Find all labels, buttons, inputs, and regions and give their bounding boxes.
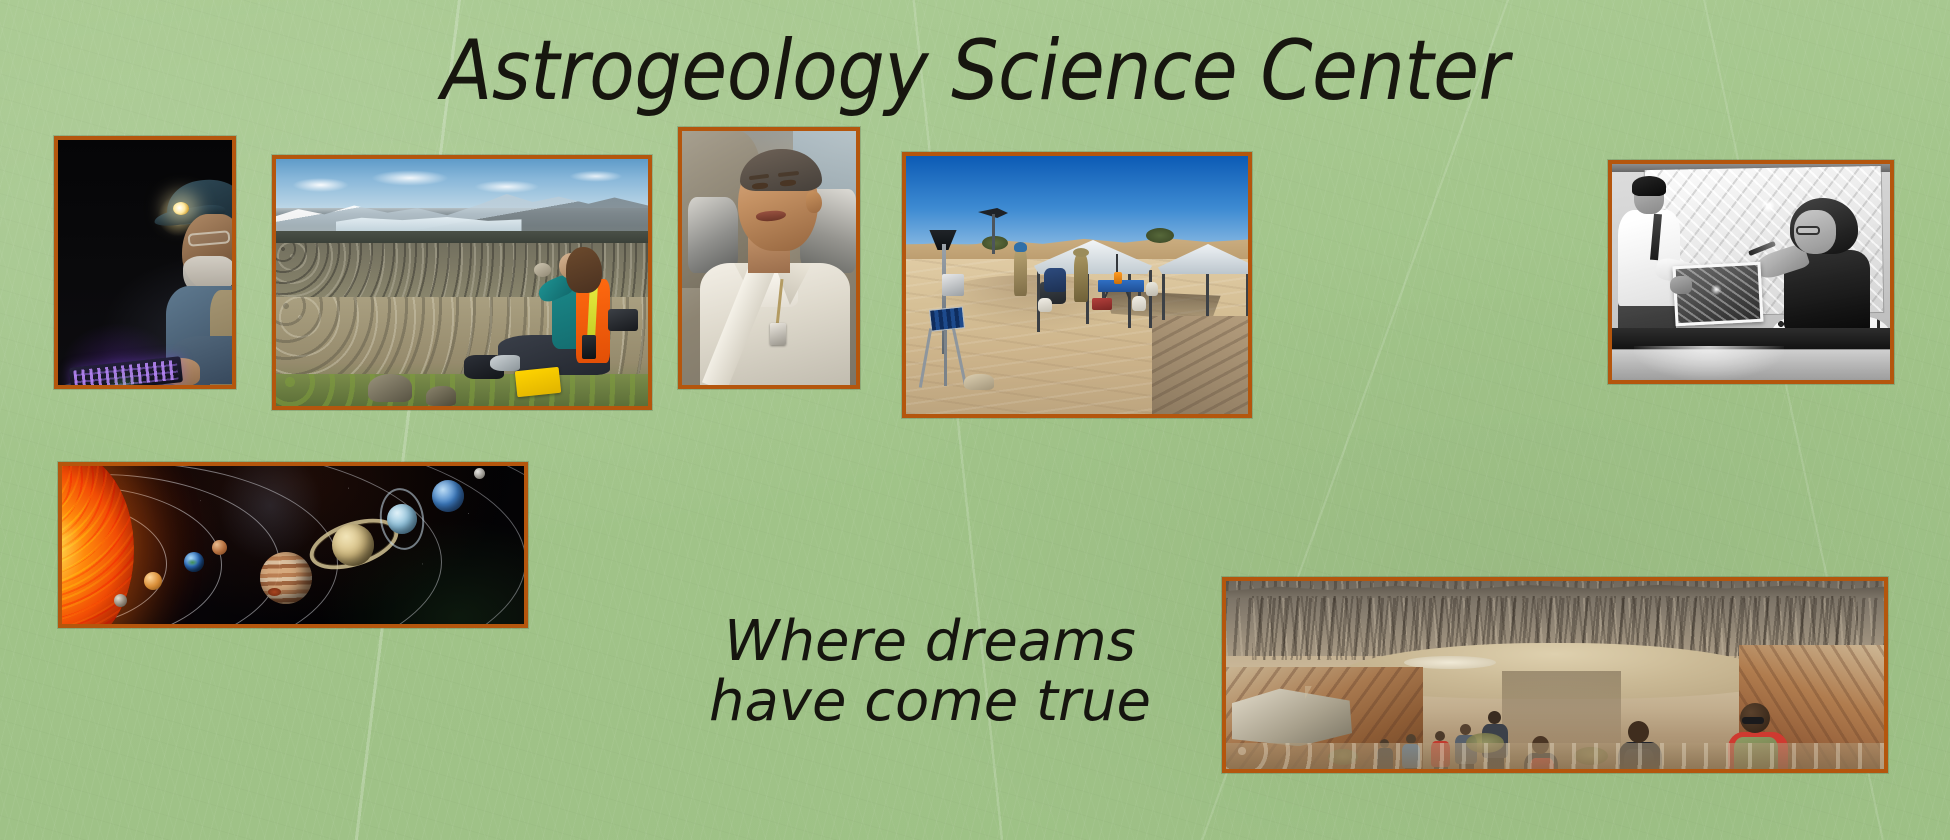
foreground-gravel bbox=[1226, 743, 1884, 769]
planet-venus bbox=[144, 572, 162, 590]
crater-scene bbox=[1226, 581, 1884, 769]
standing-researcher-center bbox=[1074, 254, 1088, 302]
photo-geologist-portrait bbox=[678, 127, 860, 389]
tripod-leg bbox=[944, 330, 947, 386]
photo-solar-system bbox=[58, 462, 528, 628]
head-with-hat bbox=[1073, 248, 1089, 257]
photo-night-computer bbox=[54, 136, 236, 389]
rock-sample-shape bbox=[534, 263, 551, 277]
camp-scene bbox=[906, 156, 1248, 414]
canopy-leg bbox=[1206, 270, 1209, 316]
radio-shape bbox=[582, 335, 596, 359]
keyboard-shape bbox=[69, 356, 183, 385]
hair-shape bbox=[566, 247, 602, 293]
water-jug bbox=[1114, 272, 1122, 284]
equipment-crate bbox=[1092, 298, 1112, 310]
shoe-shape bbox=[490, 355, 520, 371]
tagline: Where dreams have come true bbox=[700, 612, 1160, 732]
boulder bbox=[368, 374, 412, 402]
boulder bbox=[426, 386, 456, 406]
camera-shape bbox=[608, 309, 638, 331]
astrogeology-poster: Astrogeology Science Center bbox=[0, 0, 1950, 840]
wind-vane-mast bbox=[992, 214, 995, 254]
canopy-leg bbox=[1149, 270, 1152, 328]
desert-bush bbox=[982, 236, 1008, 250]
planet-mercury bbox=[114, 594, 127, 607]
keyboard-keys bbox=[73, 360, 179, 385]
photo-meteor-crater-hikers bbox=[1222, 577, 1888, 773]
page-title: Astrogeology Science Center bbox=[0, 22, 1950, 119]
head-with-hardhat bbox=[1014, 242, 1027, 252]
photo-historic-lunar-mapping bbox=[1608, 160, 1894, 384]
sunglasses-icon bbox=[1742, 717, 1764, 724]
sky bbox=[906, 156, 1248, 244]
woman-eyeglasses bbox=[1796, 226, 1820, 235]
sample-bag bbox=[1038, 298, 1052, 312]
jupiter-great-red-spot bbox=[268, 588, 281, 596]
iceland-scene bbox=[276, 159, 648, 406]
photo-desert-field-camp bbox=[902, 152, 1252, 418]
sample-bag bbox=[1146, 282, 1158, 296]
headlamp-icon bbox=[173, 202, 189, 215]
standing-researcher-left bbox=[1014, 248, 1027, 296]
sample-bag bbox=[1132, 296, 1146, 311]
foreground-rock bbox=[964, 374, 994, 390]
planet-neptune bbox=[432, 480, 464, 512]
seated-researcher bbox=[1044, 268, 1066, 292]
night-computer-scene bbox=[58, 140, 232, 385]
portrait-scene bbox=[682, 131, 856, 385]
planet-earth bbox=[184, 552, 204, 572]
planet-uranus bbox=[387, 504, 417, 534]
lunar-photograph-print bbox=[1672, 262, 1763, 327]
solar-system-scene bbox=[62, 466, 524, 624]
backpack-left-shape bbox=[688, 197, 738, 273]
light-table-glow bbox=[1634, 346, 1784, 380]
dwarf-planet-pluto bbox=[474, 468, 485, 479]
desert-bush bbox=[1146, 228, 1174, 243]
man-hair bbox=[1632, 176, 1666, 196]
planet-jupiter bbox=[260, 552, 312, 604]
field-notebook-shape bbox=[515, 367, 561, 397]
pendant-shape bbox=[770, 323, 786, 345]
datalogger-box bbox=[942, 274, 964, 296]
planet-saturn bbox=[332, 524, 374, 566]
man-hand bbox=[1670, 276, 1692, 294]
solar-panel-icon bbox=[929, 306, 965, 331]
planet-mars bbox=[212, 540, 227, 555]
moss-foreground bbox=[276, 374, 648, 406]
historic-scene bbox=[1612, 164, 1890, 380]
photo-iceland-fieldwork bbox=[272, 155, 652, 410]
clouds bbox=[276, 164, 648, 199]
canopy-leg bbox=[1246, 272, 1248, 316]
canopy-leg bbox=[1162, 270, 1165, 320]
eroded-gully bbox=[1152, 316, 1248, 414]
ear-shape bbox=[806, 191, 822, 213]
